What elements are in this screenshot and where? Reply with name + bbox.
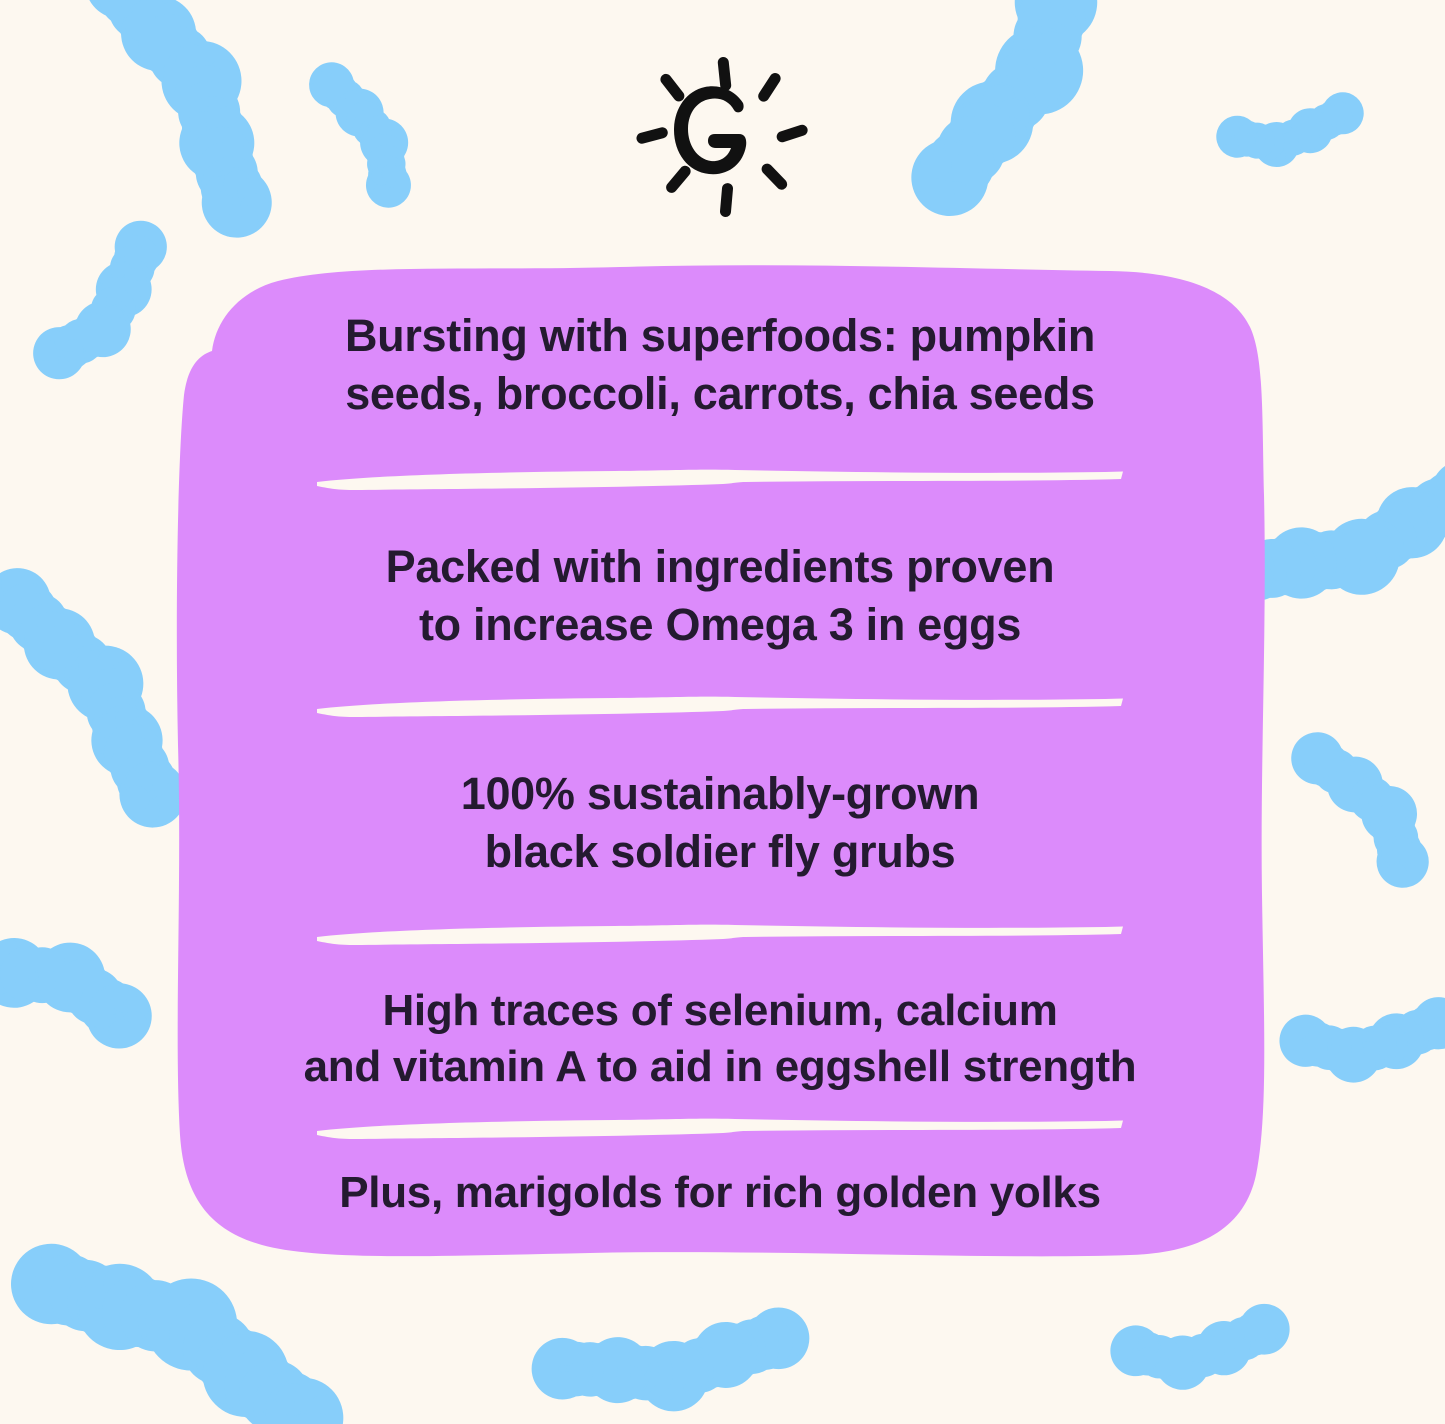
squiggle-top-left	[73, 0, 311, 250]
squiggle-right-lower	[1275, 987, 1445, 1094]
squiggle-bottom-center	[528, 1304, 817, 1424]
panel-content: Bursting with superfoods: pumpkin seeds,…	[150, 245, 1290, 1280]
poster-canvas: Bursting with superfoods: pumpkin seeds,…	[0, 0, 1445, 1424]
squiggle-top-right	[898, 0, 1160, 246]
squiggle-right-mid	[1276, 709, 1445, 898]
divider-3	[315, 921, 1125, 947]
sun-g-logo	[623, 55, 823, 225]
squiggle-left-lower	[0, 913, 164, 1054]
feature-text-marigolds: Plus, marigolds for rich golden yolks	[190, 1165, 1250, 1221]
feature-text-eggshell: High traces of selenium, calcium and vit…	[160, 983, 1280, 1096]
feature-text-grubs: 100% sustainably-grown black soldier fly…	[190, 765, 1250, 880]
logo-letter-g	[674, 86, 746, 174]
divider-2	[315, 693, 1125, 719]
squiggle-bottom-right	[1106, 1294, 1298, 1404]
feature-panel: Bursting with superfoods: pumpkin seeds,…	[150, 245, 1290, 1280]
squiggle-top-right-small	[1212, 83, 1373, 181]
feature-text-superfoods: Bursting with superfoods: pumpkin seeds,…	[190, 307, 1250, 422]
divider-4	[315, 1115, 1125, 1141]
squiggle-top-left-small	[296, 46, 436, 217]
feature-text-omega3: Packed with ingredients proven to increa…	[190, 538, 1250, 653]
divider-1	[315, 466, 1125, 492]
